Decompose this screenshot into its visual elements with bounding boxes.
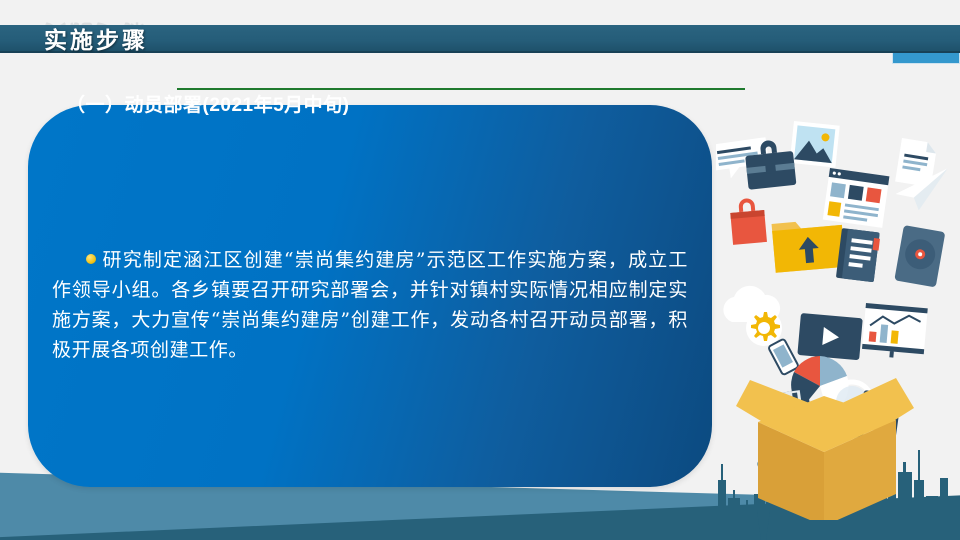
notebook-icon	[836, 228, 881, 282]
panel-heading: （一）动员部署(2021年5月中旬)	[66, 90, 350, 117]
page-title: 实施步骤	[44, 21, 148, 55]
digital-assets-collage	[716, 120, 960, 520]
video-player-icon	[797, 313, 862, 360]
bullet-dot-icon	[86, 254, 96, 264]
slide-canvas: 实施步骤 实施步骤	[0, 0, 960, 540]
panel-body-text: 研究制定涵江区创建“崇尚集约建房”示范区工作实施方案，成立工作领导小组。各乡镇要…	[52, 245, 688, 365]
picture-frame-icon	[790, 121, 840, 168]
gear-icon	[746, 310, 782, 346]
folder-upload-icon	[772, 218, 846, 273]
panel-body-paragraph: 研究制定涵江区创建“崇尚集约建房”示范区工作实施方案，成立工作领导小组。各乡镇要…	[52, 249, 688, 361]
shopping-bag-lock-icon	[729, 197, 767, 245]
smartphone-icon	[768, 339, 799, 376]
browser-window-icon	[823, 168, 890, 228]
open-box-icon	[736, 356, 914, 520]
presentation-chart-icon	[861, 303, 927, 360]
hard-drive-icon	[894, 225, 945, 287]
